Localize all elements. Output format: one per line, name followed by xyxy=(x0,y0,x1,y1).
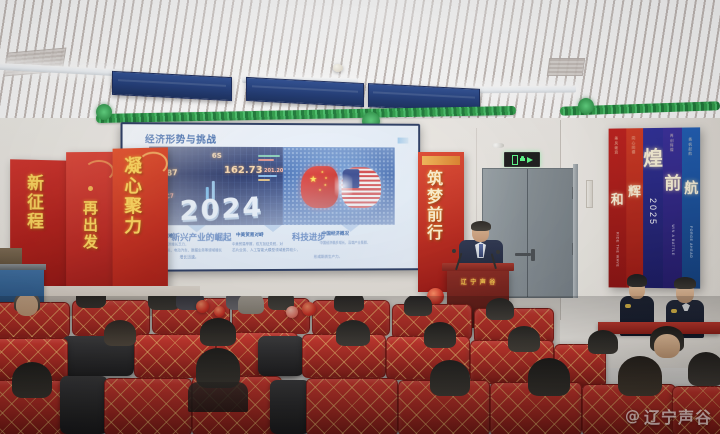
attendee-hair xyxy=(76,296,106,308)
door-split-line xyxy=(527,169,529,297)
podium-nameplate: 辽 宁 声 谷 xyxy=(450,276,506,287)
banner-header-strip xyxy=(422,156,460,165)
banner-panel-glyph: 辉 xyxy=(628,186,641,199)
podium-plate-char: 谷 xyxy=(489,277,496,286)
attendee-hair xyxy=(618,356,662,396)
audience-seating xyxy=(0,296,720,434)
garland-bow xyxy=(578,98,594,114)
side-table-top xyxy=(0,264,46,270)
attendee-hair xyxy=(334,296,364,312)
microphone-head xyxy=(452,249,456,253)
banner-right-multipanel: 乘风破浪 和 RIDE THE WAVE 同心同德 辉 煌 2025 再创辉煌 … xyxy=(609,127,701,288)
banner-text: 筑梦前行 xyxy=(425,170,441,242)
attendee-hair xyxy=(627,274,647,287)
running-man-icon xyxy=(520,156,525,164)
slide-title: 经济形势与挑战 xyxy=(145,131,217,145)
banner-panel: 扬帆起航 航 FORGE AHEAD xyxy=(682,127,700,288)
attendee-hair xyxy=(336,320,370,346)
slide-column-head: 中美贸易对峙 xyxy=(236,232,264,238)
seat xyxy=(104,378,192,434)
garland-bow xyxy=(96,104,112,120)
seat xyxy=(306,378,398,434)
slide-column-head: 中国经济概况 xyxy=(322,231,349,237)
banner-year: 2025 xyxy=(648,198,658,226)
speaker-hair xyxy=(471,221,491,231)
slide-column-body: 形成新质生产力。 xyxy=(314,255,342,260)
attendee-hair xyxy=(12,362,52,398)
seat xyxy=(672,386,720,434)
banner-panel-subtext: 乘风破浪 xyxy=(615,136,620,154)
emergency-exit-sign xyxy=(504,152,540,167)
exit-door-icon xyxy=(512,155,518,165)
banner-panel-english: FORGE AHEAD xyxy=(689,226,693,258)
seat-back-dark xyxy=(258,336,304,376)
attendee-hair xyxy=(200,318,236,346)
pompom-decoration xyxy=(302,302,316,316)
attendee-shoulders xyxy=(188,382,248,412)
banner-panel-english: WIN A BATTLE xyxy=(671,224,675,255)
attendee-head xyxy=(16,296,38,316)
banner-panel: 乘风破浪 和 RIDE THE WAVE xyxy=(609,128,626,287)
attendee-hair xyxy=(430,360,470,396)
slide-column-body: 中国经济稳步增长，高端产业集群、 xyxy=(320,240,370,245)
banner-panel-subtext: 再创辉煌 xyxy=(670,134,675,153)
attendee-hair xyxy=(238,296,264,314)
slide-column-script: 新兴产业的崛起 xyxy=(171,231,231,243)
attendee-hair xyxy=(486,298,514,320)
attendee-hair xyxy=(424,322,456,348)
podium-plate-char: 声 xyxy=(479,277,486,286)
exit-arrow-icon xyxy=(527,157,533,163)
slide-column-body: 中美贸易摩擦，双方加征关税，对 xyxy=(232,241,283,246)
attendee-hair xyxy=(404,296,432,316)
banner-panel: 同心同德 辉 xyxy=(626,128,643,288)
door-frame xyxy=(573,164,578,298)
seat-back-dark xyxy=(60,376,108,434)
cloud-swirl-ornament xyxy=(84,160,114,182)
banner-text: 新征程 xyxy=(24,174,41,231)
banner-panel-glyph: 和 xyxy=(611,194,624,207)
slide-logo xyxy=(398,138,409,144)
slide-column-body: 芯片业务、人工智能大模型领域差异较少， xyxy=(232,248,300,253)
attendee-hair xyxy=(588,330,618,354)
pompom-decoration xyxy=(286,306,298,318)
banner-panel: 再创辉煌 前 WIN A BATTLE xyxy=(663,128,682,289)
pompom-decoration xyxy=(214,306,225,317)
banner-text: 再出发 xyxy=(82,200,97,251)
slide-hero-image: 15.87 M 6S 162.73 201.20 C7 ★ xyxy=(149,147,395,226)
pompom-decoration xyxy=(196,300,209,313)
door-handle[interactable] xyxy=(515,253,531,256)
slide-column-body: 增长迅速。 xyxy=(179,255,198,260)
attendee-head xyxy=(654,334,680,358)
door-lock[interactable] xyxy=(531,249,535,261)
attendee-hair xyxy=(508,326,540,352)
speaker-tie xyxy=(479,244,483,257)
seat-back-dark xyxy=(270,380,310,434)
dot-ornament xyxy=(88,186,93,191)
banner-panel-glyph: 煌 xyxy=(643,148,663,168)
attendee-hair xyxy=(528,358,570,396)
projector-washout xyxy=(149,147,395,226)
ceiling-vent xyxy=(547,58,586,76)
banner-unite-strength: 凝心聚力 xyxy=(113,147,168,306)
ceiling-speaker-dome xyxy=(333,64,343,72)
attendee-hair xyxy=(688,352,720,386)
banner-panel-english: RIDE THE WAVE xyxy=(615,232,619,267)
attendee-hair xyxy=(104,320,136,346)
cloud-swirl-ornament xyxy=(138,151,168,176)
chevron-down-icon xyxy=(264,225,282,232)
podium-plate-char: 辽 xyxy=(460,277,467,286)
podium-top-surface xyxy=(442,263,514,271)
podium-plate-char: 宁 xyxy=(470,277,477,286)
banner-panel-subtext: 扬帆起航 xyxy=(689,138,694,157)
microphone-head xyxy=(496,250,500,254)
wall-switch[interactable] xyxy=(586,180,593,208)
smoke-detector xyxy=(492,143,504,148)
banner-panel-glyph: 前 xyxy=(664,176,681,193)
banner-set-out-again: 再出发 xyxy=(66,152,118,300)
banner-text: 凝心聚力 xyxy=(122,156,140,236)
conference-hall-photo: 经济形势与挑战 15.87 M 6S 162.73 201.20 C7 xyxy=(0,0,720,434)
attendee-hair xyxy=(674,277,696,289)
banner-panel-glyph: 航 xyxy=(684,182,698,196)
banner-panel-subtext: 同心同德 xyxy=(632,136,637,154)
banner-panel: 煌 2025 xyxy=(643,128,663,288)
